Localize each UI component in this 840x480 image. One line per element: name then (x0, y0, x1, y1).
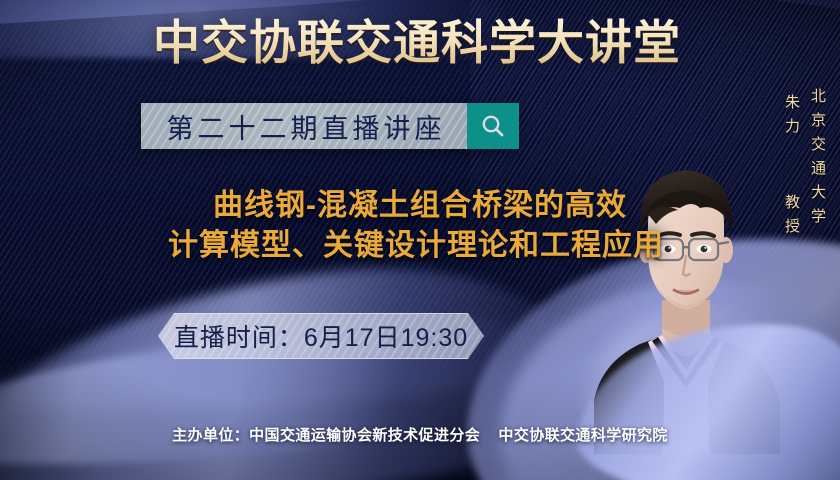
search-icon (480, 113, 506, 139)
episode-plate: 第二十二期直播讲座 (141, 103, 467, 149)
speaker-affiliation: 北京交通大学 (807, 88, 828, 232)
organizer-footer: 主办单位：中国交通运输协会新技术促进分会 中交协联交通科学研究院 (0, 424, 840, 445)
episode-bar[interactable]: 第二十二期直播讲座 (141, 103, 519, 149)
speaker-portrait (588, 132, 784, 454)
episode-label: 第二十二期直播讲座 (163, 107, 446, 146)
live-lecture-poster: 中交协联交通科学大讲堂 第二十二期直播讲座 曲线钢-混凝土组合桥梁的高效 计算模… (0, 0, 840, 480)
live-time-label: 直播时间：6月17日19:30 (174, 318, 468, 354)
speaker-name: 朱力 教授 (781, 94, 802, 242)
live-time-badge: 直播时间：6月17日19:30 (158, 313, 484, 359)
lecture-title: 曲线钢-混凝土组合桥梁的高效 计算模型、关键设计理论和工程应用 (0, 186, 840, 266)
lecture-title-line2: 计算模型、关键设计理论和工程应用 (0, 226, 840, 266)
lecture-title-line1: 曲线钢-混凝土组合桥梁的高效 (0, 186, 840, 226)
page-title: 中交协联交通科学大讲堂 (0, 14, 840, 72)
search-button[interactable] (467, 103, 519, 149)
